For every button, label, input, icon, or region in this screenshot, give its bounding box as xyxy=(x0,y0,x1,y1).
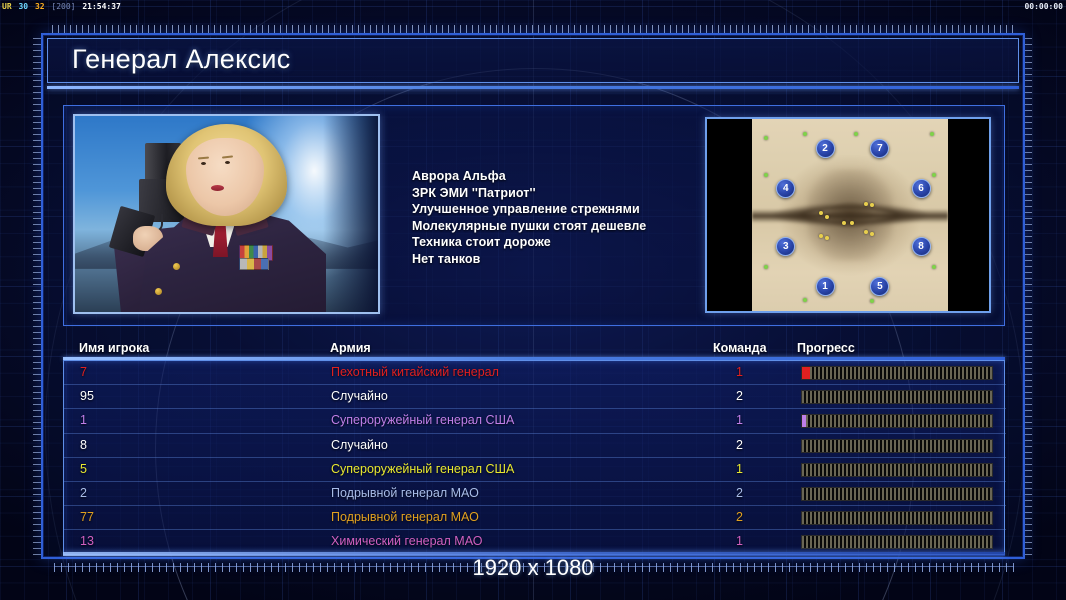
map-resource-marker xyxy=(825,215,829,219)
general-description-line: Аврора Альфа xyxy=(412,168,702,185)
portrait-eye-left xyxy=(201,162,206,165)
map-start-position-marker[interactable]: 7 xyxy=(870,139,889,158)
map-resource-marker xyxy=(825,236,829,240)
general-description-line: Молекулярные пушки стоят дешевле xyxy=(412,218,702,235)
cell-army: Подрывной генерал МАО xyxy=(331,510,479,524)
map-resource-marker xyxy=(854,132,858,136)
column-header-army: Армия xyxy=(330,341,371,355)
cell-player-name: 77 xyxy=(80,510,94,524)
progress-bar-track xyxy=(802,536,992,548)
portrait-medal-ribbons-row2 xyxy=(239,258,269,270)
cell-team: 2 xyxy=(721,486,743,500)
table-row[interactable]: 95Случайно2 xyxy=(64,385,1006,409)
map-resource-marker xyxy=(764,136,768,140)
general-description-line: Нет танков xyxy=(412,251,702,268)
general-description-list: Аврора АльфаЗРК ЭМИ ''Патриот''Улучшенно… xyxy=(412,168,702,268)
cell-army: Подрывной генерал МАО xyxy=(331,486,479,500)
general-description-line: Улучшенное управление стрежнями xyxy=(412,201,702,218)
map-resource-marker xyxy=(930,132,934,136)
general-description-line: Техника стоит дороже xyxy=(412,234,702,251)
progress-bar xyxy=(801,439,993,453)
general-portrait xyxy=(73,114,380,314)
table-row[interactable]: 1Супероружейный генерал США1 xyxy=(64,409,1006,433)
map-start-position-marker[interactable]: 8 xyxy=(912,237,931,256)
progress-bar xyxy=(801,535,993,549)
status-number-2: 32 xyxy=(34,2,46,11)
cell-army: Случайно xyxy=(331,438,388,452)
map-resource-marker xyxy=(764,173,768,177)
table-row[interactable]: 2Подрывной генерал МАО2 xyxy=(64,482,1006,506)
cell-team: 2 xyxy=(721,438,743,452)
status-tag: UR xyxy=(1,2,13,11)
status-number-1: 30 xyxy=(17,2,29,11)
map-start-position-marker[interactable]: 6 xyxy=(912,179,931,198)
progress-bar-track xyxy=(802,488,992,500)
column-header-progress: Прогресс xyxy=(797,341,855,355)
progress-bar xyxy=(801,463,993,477)
status-bracket: [200] xyxy=(50,2,76,11)
cell-team: 2 xyxy=(721,510,743,524)
progress-bar-track xyxy=(802,391,992,403)
progress-bar xyxy=(801,366,993,380)
map-start-position-marker[interactable]: 4 xyxy=(776,179,795,198)
column-header-player-name: Имя игрока xyxy=(79,341,149,355)
resolution-label: 1920 x 1080 xyxy=(0,555,1066,581)
title-divider xyxy=(47,86,1019,89)
status-timer-right: 00:00:00 xyxy=(1024,0,1063,13)
cell-player-name: 5 xyxy=(80,462,87,476)
map-preview: 27463815 xyxy=(705,117,991,313)
progress-bar xyxy=(801,414,993,428)
status-bar: UR 30 32 [200] 21:54:37 00:00:00 xyxy=(0,0,1066,13)
map-resource-marker xyxy=(819,234,823,238)
map-resource-marker xyxy=(864,202,868,206)
cell-player-name: 13 xyxy=(80,534,94,548)
progress-bar-track xyxy=(802,415,992,427)
cell-team: 1 xyxy=(721,462,743,476)
map-resource-marker xyxy=(932,265,936,269)
cell-army: Супероружейный генерал США xyxy=(331,462,514,476)
map-resource-marker xyxy=(803,132,807,136)
progress-bar-track xyxy=(802,512,992,524)
progress-bar xyxy=(801,487,993,501)
progress-bar-track xyxy=(802,464,992,476)
cell-player-name: 8 xyxy=(80,438,87,452)
map-terrain-image: 27463815 xyxy=(752,119,948,311)
map-start-position-marker[interactable]: 1 xyxy=(816,277,835,296)
cell-player-name: 7 xyxy=(80,365,87,379)
map-start-position-marker[interactable]: 2 xyxy=(816,139,835,158)
cell-team: 1 xyxy=(721,534,743,548)
map-resource-marker xyxy=(870,232,874,236)
map-start-position-marker[interactable]: 5 xyxy=(870,277,889,296)
map-resource-marker xyxy=(932,173,936,177)
map-resource-marker xyxy=(764,265,768,269)
cell-army: Пехотный китайский генерал xyxy=(331,365,499,379)
map-resource-marker xyxy=(819,211,823,215)
column-header-team: Команда xyxy=(713,341,767,355)
cell-team: 1 xyxy=(721,413,743,427)
cell-army: Химический генерал МАО xyxy=(331,534,482,548)
progress-bar xyxy=(801,511,993,525)
cell-player-name: 2 xyxy=(80,486,87,500)
map-start-position-marker[interactable]: 3 xyxy=(776,237,795,256)
progress-bar-track xyxy=(802,367,992,379)
general-description-line: ЗРК ЭМИ ''Патриот'' xyxy=(412,185,702,202)
progress-bar-fill xyxy=(802,415,806,427)
table-row[interactable]: 7Пехотный китайский генерал1 xyxy=(64,361,1006,385)
progress-bar xyxy=(801,390,993,404)
table-row[interactable]: 77Подрывной генерал МАО2 xyxy=(64,506,1006,530)
map-resource-marker xyxy=(842,221,846,225)
player-list-table: 7Пехотный китайский генерал195Случайно21… xyxy=(63,360,1005,555)
map-resource-marker xyxy=(870,299,874,303)
cell-player-name: 95 xyxy=(80,389,94,403)
cell-army: Случайно xyxy=(331,389,388,403)
table-row[interactable]: 8Случайно2 xyxy=(64,434,1006,458)
game-lobby-screen: UR 30 32 [200] 21:54:37 00:00:00 Генерал… xyxy=(0,0,1066,600)
table-row[interactable]: 13Химический генерал МАО1 xyxy=(64,530,1006,554)
cell-team: 1 xyxy=(721,365,743,379)
map-resource-marker xyxy=(803,298,807,302)
progress-bar-track xyxy=(802,440,992,452)
map-resource-marker xyxy=(850,221,854,225)
status-clock: 21:54:37 xyxy=(81,2,122,11)
cell-army: Супероружейный генерал США xyxy=(331,413,514,427)
status-bar-left: UR 30 32 [200] 21:54:37 xyxy=(1,0,122,13)
table-row[interactable]: 5Супероружейный генерал США1 xyxy=(64,458,1006,482)
cell-player-name: 1 xyxy=(80,413,87,427)
portrait-lips xyxy=(211,185,224,191)
progress-bar-fill xyxy=(802,367,810,379)
cell-team: 2 xyxy=(721,389,743,403)
portrait-vignette xyxy=(323,116,378,312)
page-title: Генерал Алексис xyxy=(72,44,291,75)
